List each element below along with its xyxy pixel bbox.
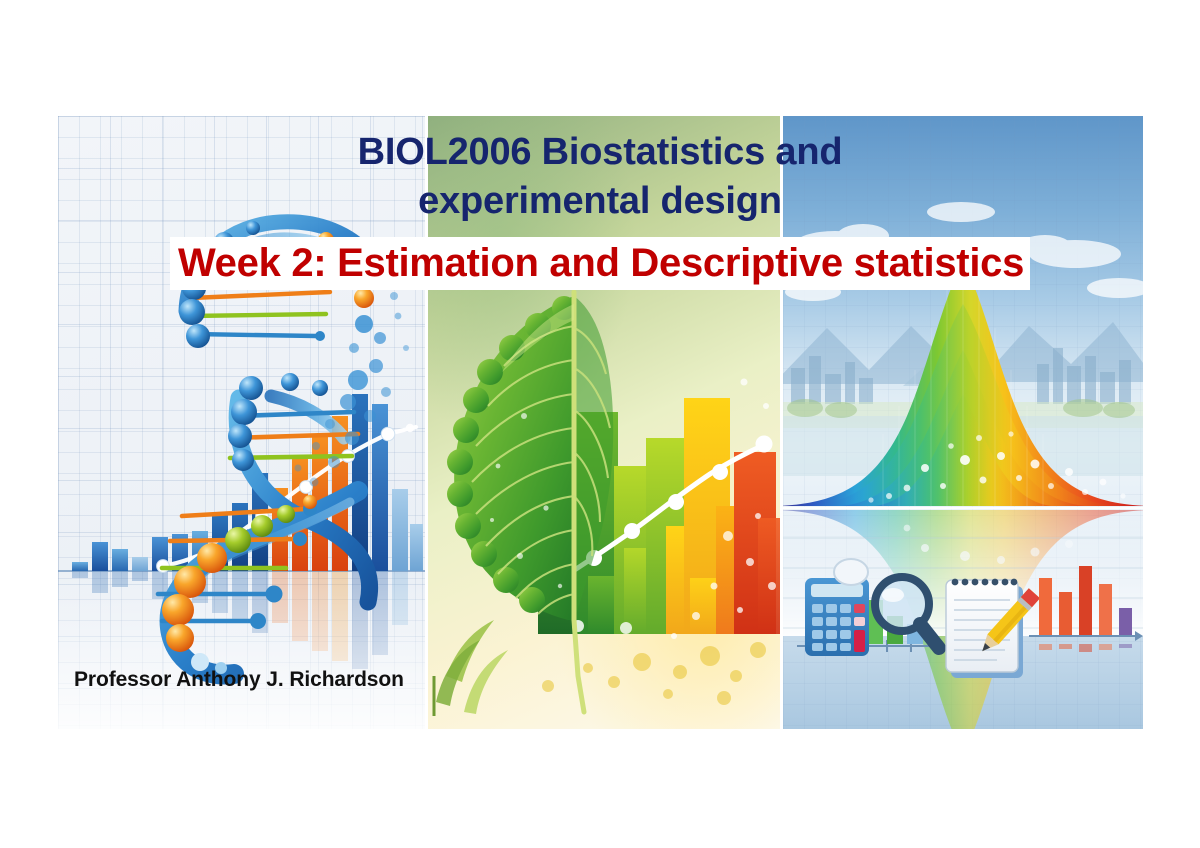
presenter-name: Professor Anthony J. Richardson: [74, 668, 404, 692]
tools-mini-bar-chart-right: [1039, 566, 1132, 636]
hero-triptych-image: [58, 116, 1143, 729]
bell-curve-statistics-panel: [783, 116, 1143, 729]
dna-double-helix-icon: [58, 116, 425, 729]
calculator-icon: [805, 578, 869, 656]
leaf-icon: [428, 116, 780, 729]
leaf-statistics-panel: [428, 116, 780, 729]
slide-subtitle-wrapper: Week 2: Estimation and Descriptive stati…: [0, 237, 1200, 290]
grass-sprig-icon: [434, 620, 508, 716]
dna-statistics-panel: [58, 116, 425, 729]
slide-subtitle: Week 2: Estimation and Descriptive stati…: [170, 237, 1030, 290]
statistics-tools-group: [783, 116, 1143, 729]
tools-axis-right-reflection: [1039, 644, 1132, 652]
title-slide: BIOL2006 Biostatistics and experimental …: [0, 0, 1200, 848]
